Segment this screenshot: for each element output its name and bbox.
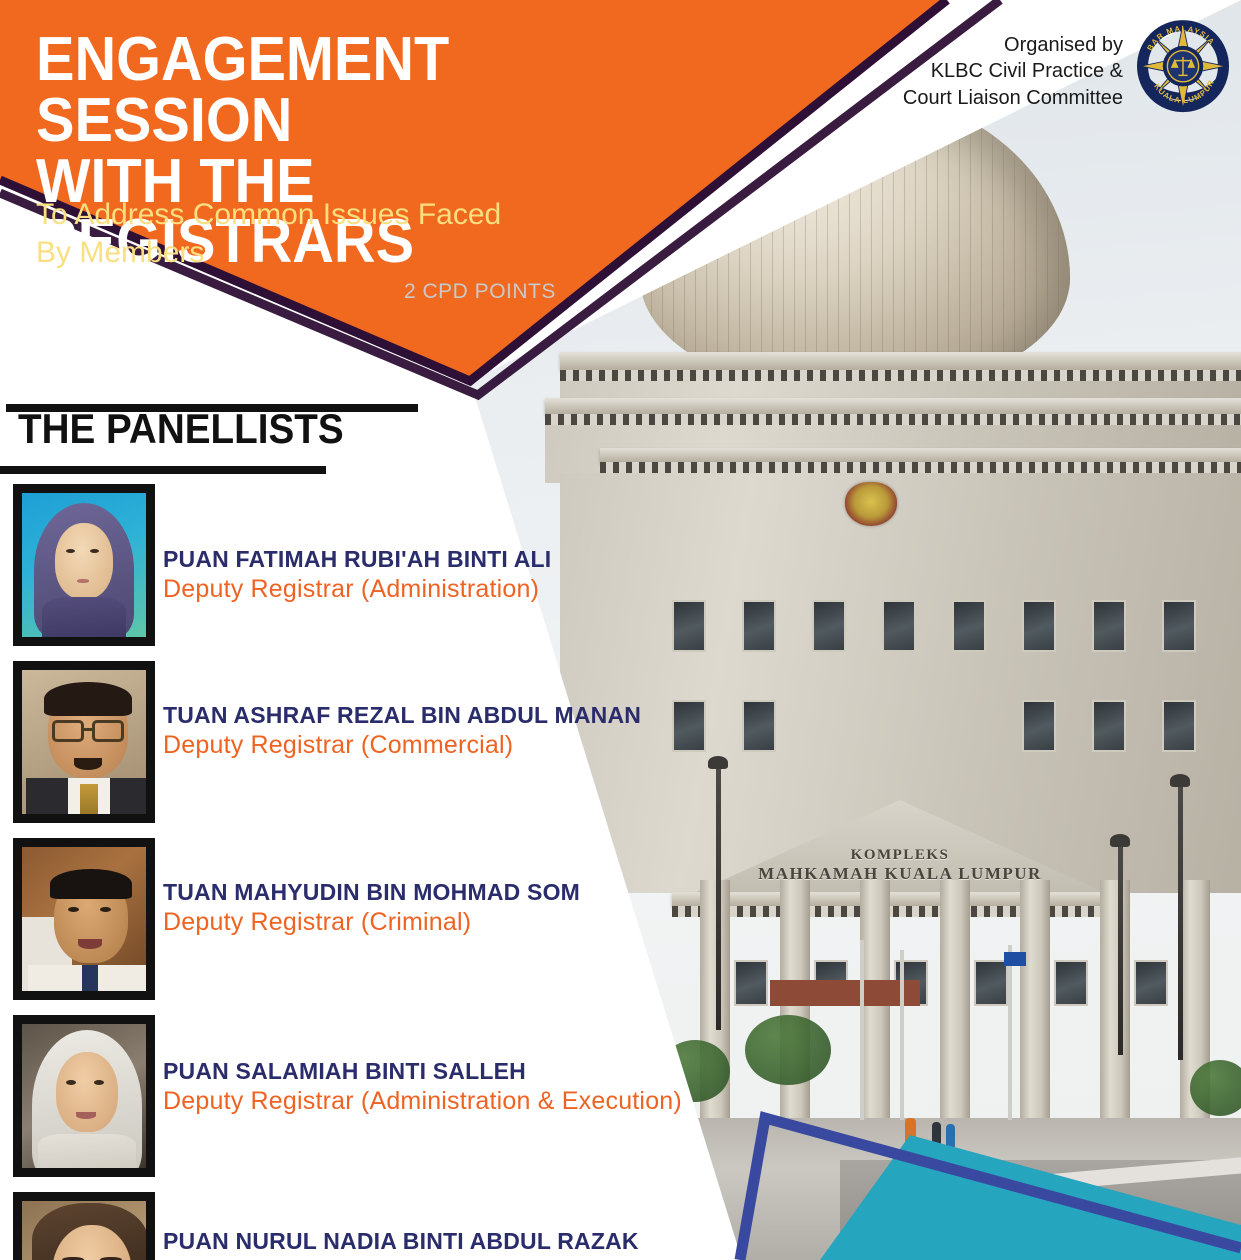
avatar bbox=[13, 1015, 155, 1177]
avatar bbox=[13, 838, 155, 1000]
panellist-role: Deputy Registrar (Commercial) bbox=[163, 731, 641, 760]
panellist-name: TUAN MAHYUDIN BIN MOHMAD SOM bbox=[163, 879, 580, 906]
panellist-role: Deputy Registrar (Administration & Execu… bbox=[163, 1087, 682, 1116]
avatar bbox=[13, 661, 155, 823]
poster-content: ENGAGEMENT SESSION WITH THE REGISTRARS T… bbox=[0, 0, 1241, 1260]
panellist-role: Deputy Registrar (Criminal) bbox=[163, 908, 580, 937]
title-line-1: ENGAGEMENT SESSION bbox=[36, 25, 449, 155]
bar-malaysia-logo: BAR MALAYSIA KUALA LUMPUR bbox=[1137, 18, 1229, 118]
organiser-credit: Organised by KLBC Civil Practice & Court… bbox=[793, 32, 1123, 111]
panellist-text: TUAN MAHYUDIN BIN MOHMAD SOM Deputy Regi… bbox=[163, 879, 580, 937]
panellist-text: PUAN SALAMIAH BINTI SALLEH Deputy Regist… bbox=[163, 1058, 682, 1116]
subtitle-line-2: By Members bbox=[36, 234, 636, 272]
panellist-name: TUAN ASHRAF REZAL BIN ABDUL MANAN bbox=[163, 702, 641, 729]
organiser-line-1: Organised by bbox=[793, 32, 1123, 58]
panellist-name: PUAN SALAMIAH BINTI SALLEH bbox=[163, 1058, 682, 1085]
heading-rule-bottom bbox=[0, 466, 326, 474]
panellist-text: TUAN ASHRAF REZAL BIN ABDUL MANAN Deputy… bbox=[163, 702, 641, 760]
avatar bbox=[13, 1192, 155, 1260]
panellist-text: PUAN FATIMAH RUBI'AH BINTI ALI Deputy Re… bbox=[163, 546, 551, 604]
avatar bbox=[13, 484, 155, 646]
organiser-line-2: KLBC Civil Practice & bbox=[793, 58, 1123, 84]
organiser-line-3: Court Liaison Committee bbox=[793, 85, 1123, 111]
panellist-text: PUAN NURUL NADIA BINTI ABDUL RAZAK bbox=[163, 1228, 639, 1257]
panellist-name: PUAN FATIMAH RUBI'AH BINTI ALI bbox=[163, 546, 551, 573]
subtitle: To Address Common Issues Faced By Member… bbox=[36, 196, 636, 271]
panellists-heading: THE PANELLISTS bbox=[18, 408, 344, 450]
panellist-role: Deputy Registrar (Administration) bbox=[163, 575, 551, 604]
panellist-name: PUAN NURUL NADIA BINTI ABDUL RAZAK bbox=[163, 1228, 639, 1255]
cpd-points-badge: 2 CPD POINTS bbox=[404, 280, 556, 304]
poster-canvas: KOMPLEKS MAHKAMAH KUALA LUMPUR bbox=[0, 0, 1241, 1260]
subtitle-line-1: To Address Common Issues Faced bbox=[36, 196, 636, 234]
